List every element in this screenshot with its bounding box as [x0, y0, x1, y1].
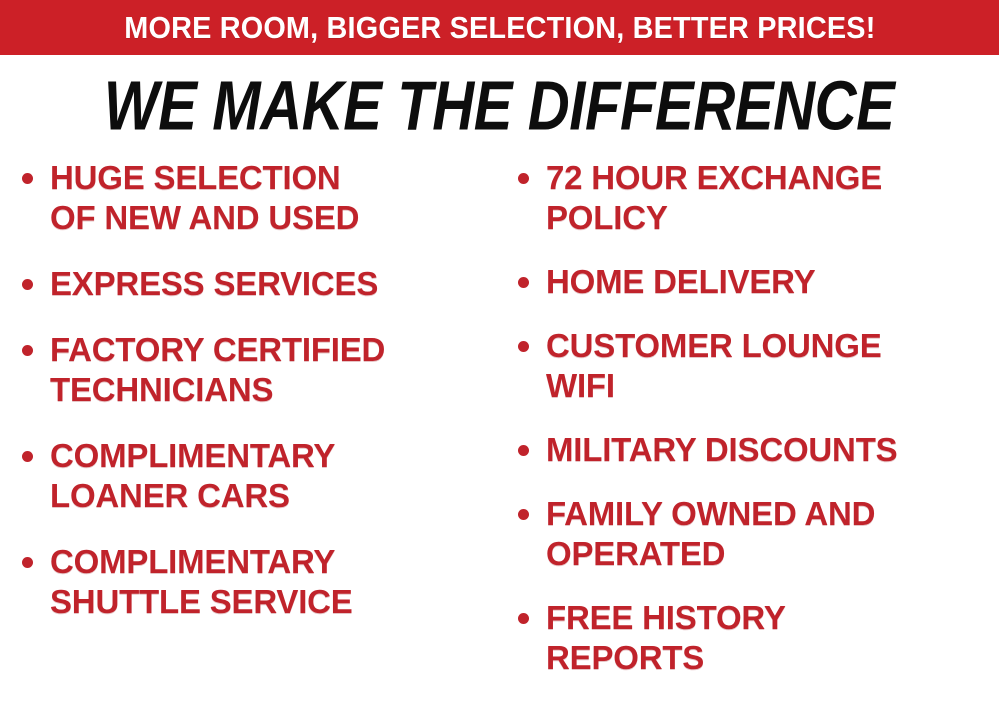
bullet-dot-icon: [518, 277, 529, 288]
feature-column-left: HUGE SELECTION OF NEW AND USED EXPRESS S…: [0, 158, 500, 648]
bullet-dot-icon: [22, 345, 33, 356]
list-item: EXPRESS SERVICES: [18, 264, 494, 304]
list-item-label: MILITARY DISCOUNTS: [546, 430, 997, 470]
list-item: 72 HOUR EXCHANGE POLICY: [514, 158, 997, 238]
bullet-dot-icon: [518, 613, 529, 624]
list-item: COMPLIMENTARY LOANER CARS: [18, 436, 494, 516]
list-item-label: FAMILY OWNED AND OPERATED: [546, 494, 997, 574]
list-item-label: COMPLIMENTARY SHUTTLE SERVICE: [50, 542, 494, 622]
bullet-dot-icon: [22, 279, 33, 290]
list-item-label: CUSTOMER LOUNGE WIFI: [546, 326, 997, 406]
list-item-label: COMPLIMENTARY LOANER CARS: [50, 436, 494, 516]
bullet-dot-icon: [518, 173, 529, 184]
bullet-dot-icon: [518, 341, 529, 352]
promo-banner-text: MORE ROOM, BIGGER SELECTION, BETTER PRIC…: [124, 12, 875, 43]
list-item-label: HUGE SELECTION OF NEW AND USED: [50, 158, 494, 238]
feature-columns: HUGE SELECTION OF NEW AND USED EXPRESS S…: [0, 158, 999, 692]
list-item: CUSTOMER LOUNGE WIFI: [514, 326, 997, 406]
bullet-dot-icon: [518, 509, 529, 520]
list-item-label: HOME DELIVERY: [546, 262, 997, 302]
feature-column-right: 72 HOUR EXCHANGE POLICY HOME DELIVERY CU…: [500, 158, 999, 702]
bullet-dot-icon: [518, 445, 529, 456]
list-item-label: FREE HISTORY REPORTS: [546, 598, 997, 678]
list-item: COMPLIMENTARY SHUTTLE SERVICE: [18, 542, 494, 622]
list-item: MILITARY DISCOUNTS: [514, 430, 997, 470]
bullet-dot-icon: [22, 557, 33, 568]
bullet-dot-icon: [22, 173, 33, 184]
promo-banner: MORE ROOM, BIGGER SELECTION, BETTER PRIC…: [0, 0, 999, 55]
list-item: FREE HISTORY REPORTS: [514, 598, 997, 678]
list-item: FACTORY CERTIFIED TECHNICIANS: [18, 330, 494, 410]
list-item: FAMILY OWNED AND OPERATED: [514, 494, 997, 574]
list-item-label: EXPRESS SERVICES: [50, 264, 494, 304]
list-item-label: FACTORY CERTIFIED TECHNICIANS: [50, 330, 494, 410]
list-item: HUGE SELECTION OF NEW AND USED: [18, 158, 494, 238]
headline-container: WE MAKE THE DIFFERENCE: [0, 66, 999, 144]
list-item-label: 72 HOUR EXCHANGE POLICY: [546, 158, 997, 238]
bullet-dot-icon: [22, 451, 33, 462]
page-title: WE MAKE THE DIFFERENCE: [104, 70, 895, 140]
list-item: HOME DELIVERY: [514, 262, 997, 302]
